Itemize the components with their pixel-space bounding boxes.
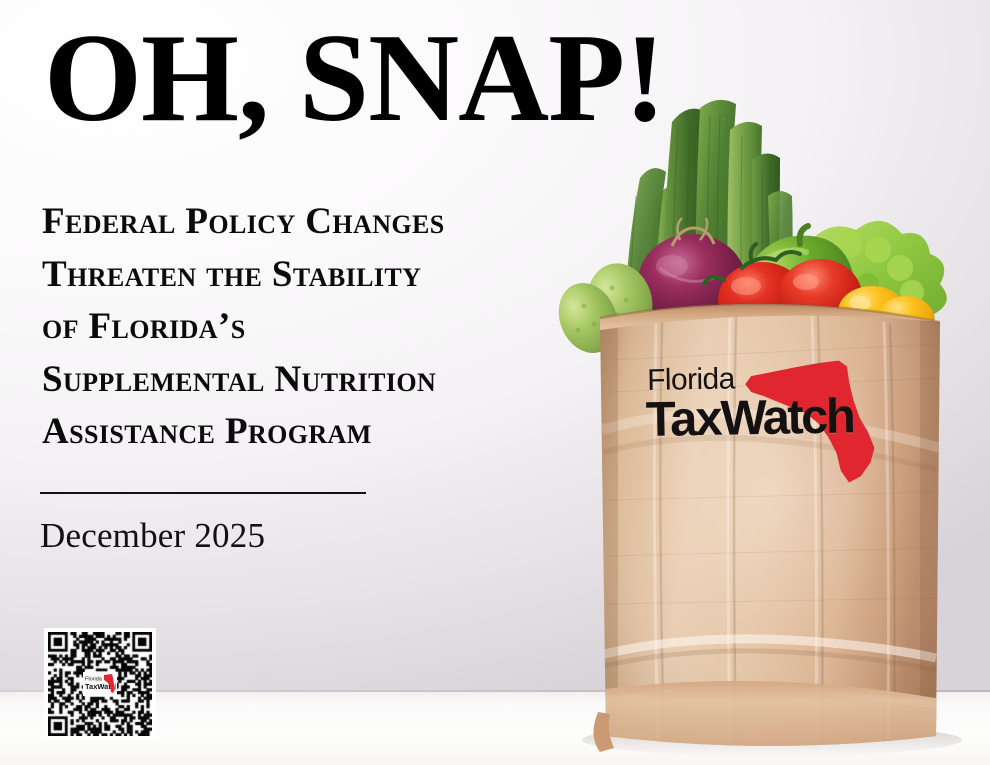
logo-watch-text: Watch — [720, 389, 854, 445]
qr-code[interactable]: Florida TaxWatch — [44, 628, 156, 740]
subtitle-line-1: Federal Policy Changes — [42, 196, 602, 249]
logo-taxwatch-text: TaxWatch — [645, 388, 853, 448]
qr-embedded-logo: Florida TaxWatch — [83, 672, 117, 696]
logo-tax-text: Tax — [645, 392, 721, 447]
divider — [40, 492, 366, 494]
subtitle-line-3: of Florida’s — [42, 301, 602, 354]
subtitle-line-4: Supplemental Nutrition — [42, 354, 602, 407]
subtitle-line-2: Threaten the Stability — [42, 249, 602, 302]
subtitle-line-5: Assistance Program — [42, 406, 602, 459]
report-cover: Florida TaxWatch OH, SNAP! Federal Polic… — [0, 0, 990, 765]
publication-date: December 2025 — [40, 516, 265, 556]
page-title: OH, SNAP! — [44, 16, 665, 142]
page-subtitle: Federal Policy Changes Threaten the Stab… — [42, 196, 602, 459]
florida-taxwatch-logo: Florida TaxWatch — [647, 360, 877, 496]
